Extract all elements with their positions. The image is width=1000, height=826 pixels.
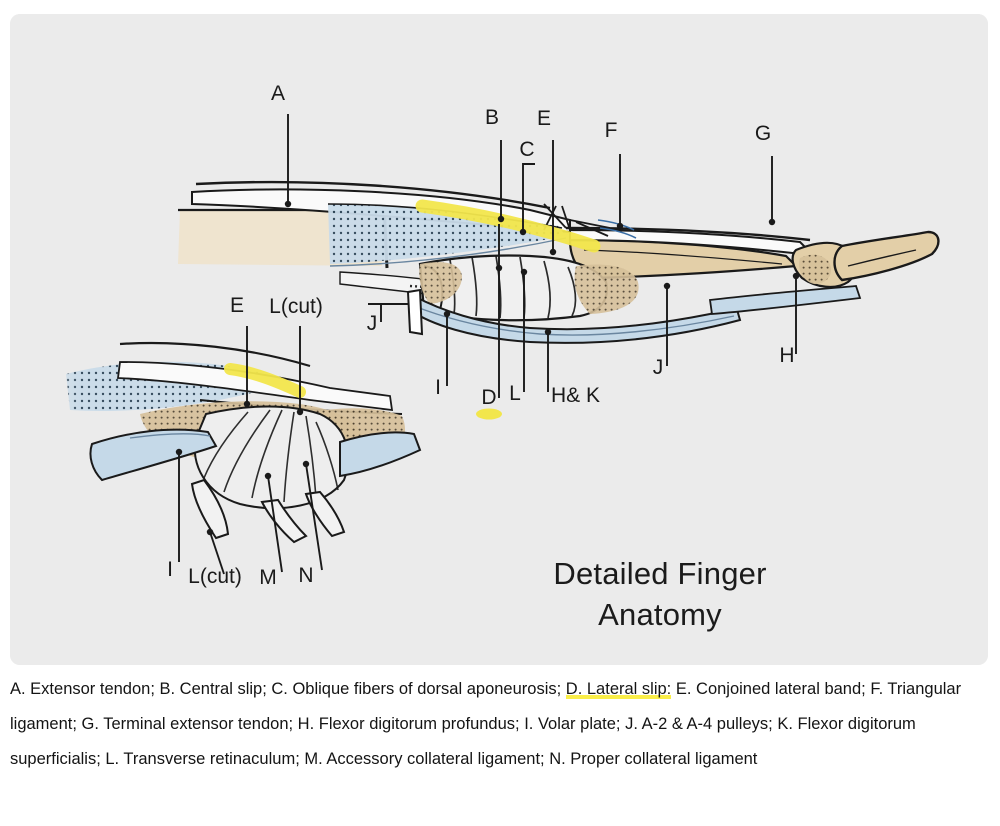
figure-caption: A. Extensor tendon; B. Central slip; C. …: [10, 672, 970, 777]
label-l: L: [509, 382, 521, 405]
caption-part-1: A. Extensor tendon; B. Central slip; C. …: [10, 680, 566, 698]
label-a: A: [271, 82, 285, 105]
figure-card: A B C E F G H I D L H& K J J E L(cut) I …: [10, 14, 988, 665]
label-e-inset: E: [230, 294, 244, 317]
label-j-upper: J: [367, 312, 378, 335]
page-root: A B C E F G H I D L H& K J J E L(cut) I …: [0, 0, 1000, 826]
highlight-dot-d: [476, 409, 502, 420]
finger-anatomy-illustration: A B C E F G H I D L H& K J J E L(cut) I …: [10, 14, 988, 665]
label-hk: H& K: [551, 384, 600, 407]
label-n: N: [298, 564, 313, 587]
label-h: H: [779, 344, 794, 367]
label-d: D: [481, 386, 496, 409]
label-i-main: I: [435, 376, 441, 399]
pulley-a2-band: [408, 290, 422, 334]
caption-highlight-lateral-slip: D. Lateral slip:: [566, 680, 671, 699]
label-lcut-bottom: L(cut): [188, 565, 242, 588]
label-i-inset: I: [167, 558, 173, 581]
inset-collateral-fan: [195, 407, 348, 509]
label-lcut-top: L(cut): [269, 295, 323, 318]
inset-left-fade: [10, 334, 80, 534]
label-f: F: [605, 119, 618, 142]
label-e-main: E: [537, 107, 551, 130]
label-b: B: [485, 106, 499, 129]
label-j-lower: J: [653, 356, 664, 379]
label-c: C: [519, 138, 534, 161]
label-g: G: [755, 122, 771, 145]
figure-title: Detailed Finger Anatomy: [510, 554, 810, 636]
label-m: M: [259, 566, 277, 589]
